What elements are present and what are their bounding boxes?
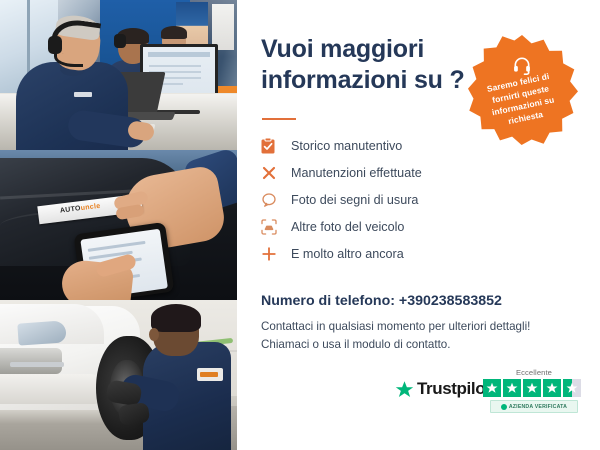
photo-vehicle-label: AUTOuncle: [0, 150, 237, 300]
photo-call-center: [0, 0, 237, 150]
plus-icon: [261, 245, 283, 263]
starburst-badge: Saremo felici di fornirti queste informa…: [466, 33, 578, 145]
rating-label: Eccellente: [483, 368, 585, 377]
speech-bubble-icon: [261, 191, 283, 209]
star-rating: [483, 379, 585, 397]
verified-check-icon: [501, 404, 507, 410]
feature-item-altro[interactable]: E molto altro ancora: [261, 240, 561, 267]
feature-label: Storico manutentivo: [291, 139, 402, 153]
feature-item-manutenzioni[interactable]: Manutenzioni effettuate: [261, 159, 561, 186]
star-5-half: [563, 379, 581, 397]
star-2: [503, 379, 521, 397]
trustpilot-star-icon: [395, 380, 414, 399]
star-3: [523, 379, 541, 397]
trustpilot-widget[interactable]: Trustpilot Eccellente: [395, 368, 585, 416]
feature-label: Foto dei segni di usura: [291, 193, 418, 207]
trustpilot-logo: Trustpilot: [395, 379, 490, 399]
photo-mechanic: [0, 300, 237, 450]
title-divider: [262, 118, 296, 120]
page-title: Vuoi maggiori informazioni su ?: [261, 34, 471, 96]
headlight: [17, 320, 66, 345]
wrench-cross-icon: [261, 164, 283, 182]
phone-line[interactable]: Numero di telefono: +390238583852: [261, 293, 502, 309]
promo-banner: AUTOuncle: [0, 0, 600, 450]
contact-description: Contattaci in qualsiasi momento per ulte…: [261, 318, 581, 355]
feature-item-altre-foto[interactable]: Altre foto del veicolo: [261, 213, 561, 240]
feature-list: Storico manutentivo Manutenzioni effettu…: [261, 132, 561, 267]
grille: [0, 348, 62, 374]
content-panel: Vuoi maggiori informazioni su ? Saremo f…: [237, 0, 600, 450]
verified-label: AZIENDA VERIFICATA: [509, 404, 567, 410]
feature-item-storico[interactable]: Storico manutentivo: [261, 132, 561, 159]
star-4: [543, 379, 561, 397]
photo-column: AUTOuncle: [0, 0, 237, 450]
trustpilot-wordmark: Trustpilot: [417, 379, 490, 399]
person-foreground-headset: [16, 18, 124, 150]
trustpilot-rating: Eccellente: [483, 368, 585, 413]
feature-label: Manutenzioni effettuate: [291, 166, 422, 180]
star-1: [483, 379, 501, 397]
clipboard-check-icon: [261, 137, 283, 155]
vehicle-frame-icon: [261, 218, 283, 236]
feature-label: E molto altro ancora: [291, 247, 404, 261]
contact-line-2: Chiamaci o usa il modulo di contatto.: [261, 336, 581, 354]
contact-line-1: Contattaci in qualsiasi momento per ulte…: [261, 318, 581, 336]
verified-badge: AZIENDA VERIFICATA: [490, 400, 578, 413]
feature-item-foto-usura[interactable]: Foto dei segni di usura: [261, 186, 561, 213]
feature-label: Altre foto del veicolo: [291, 220, 404, 234]
